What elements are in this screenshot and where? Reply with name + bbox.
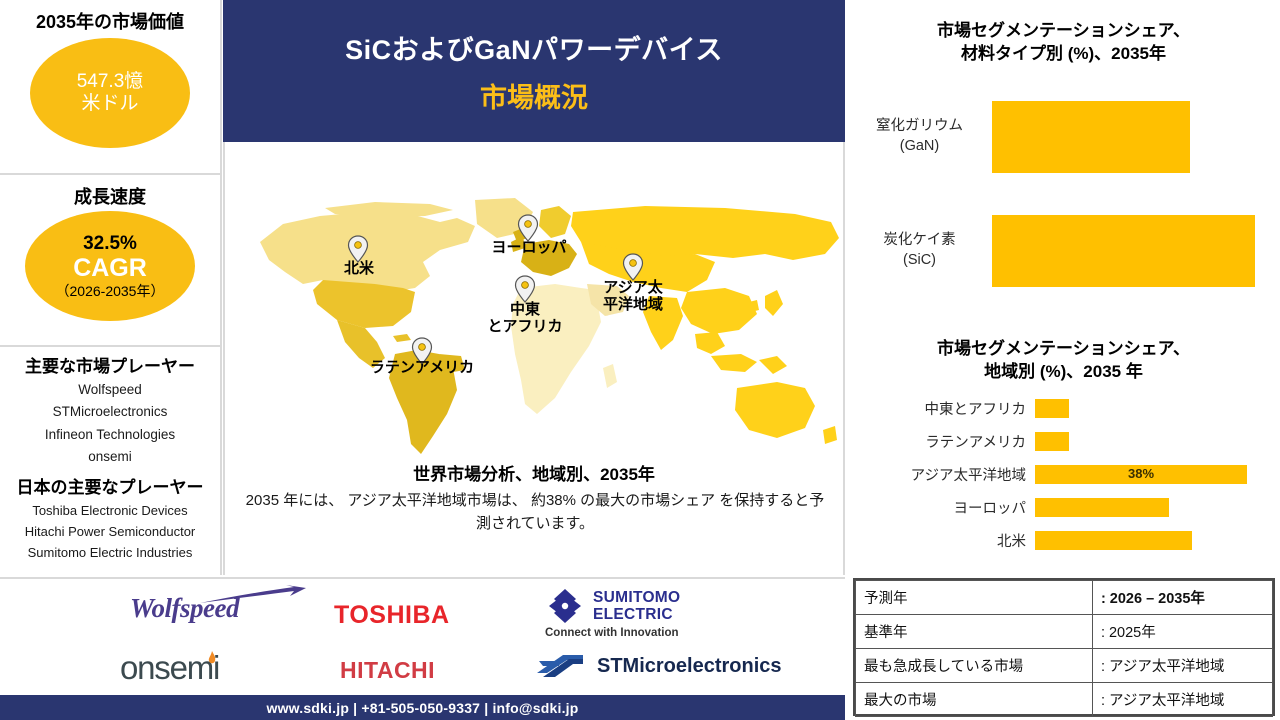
- title-banner: SiCおよびGaNパワーデバイス 市場概況: [223, 0, 845, 142]
- logo-sumitomo-line1: SUMITOMO: [593, 589, 680, 606]
- region-bar-row: ラテンアメリカ: [847, 428, 1280, 454]
- material-bar-row-sic: 炭化ケイ素 (SiC): [847, 215, 1280, 287]
- material-bar-gan: [992, 101, 1190, 173]
- map-label-asia-pacific: アジア太平洋地域: [578, 280, 688, 314]
- map-label-middle-east-africa: 中東とアフリカ: [468, 302, 582, 336]
- material-label-gan: 窒化ガリウム (GaN): [847, 117, 992, 156]
- region-bar-value-label: 38%: [1035, 466, 1247, 481]
- logo-hitachi-text: HITACHI: [340, 657, 435, 684]
- summary-table-element: 予測年: 2026 – 2035年基準年: 2025年最も急成長している市場: …: [855, 580, 1273, 717]
- market-value-ellipse: 547.3憶 米ドル: [30, 38, 190, 148]
- map-pin-asia-pacific[interactable]: [622, 253, 644, 281]
- region-chart-title: 市場セグメンテーションシェア、 地域別 (%)、2035 年: [847, 338, 1280, 384]
- list-item: Toshiba Electronic Devices: [0, 500, 220, 521]
- material-label-sic: 炭化ケイ素 (SiC): [847, 231, 992, 270]
- market-value-ellipse-wrap: 547.3憶 米ドル: [0, 34, 220, 148]
- logo-sumitomo-line2: ELECTRIC: [593, 606, 680, 623]
- table-cell-key: 基準年: [856, 615, 1093, 649]
- region-bar-row: 中東とアフリカ: [847, 395, 1280, 421]
- table-row: 予測年: 2026 – 2035年: [856, 581, 1273, 615]
- table-row: 基準年: 2025年: [856, 615, 1273, 649]
- table-row: 最も急成長している市場: アジア太平洋地域: [856, 649, 1273, 683]
- growth-rate-ellipse: 32.5% CAGR （2026-2035年）: [25, 211, 195, 321]
- map-label-europe: ヨーロッパ: [473, 240, 585, 257]
- st-logo-icon: [533, 651, 587, 681]
- material-label-sic-line1: 炭化ケイ素: [847, 231, 992, 251]
- region-chart-title-line2: 地域別 (%)、2035 年: [847, 361, 1280, 384]
- table-cell-value: : 2025年: [1092, 615, 1272, 649]
- logo-stmicroelectronics: STMicroelectronics: [533, 651, 782, 681]
- material-chart-title: 市場セグメンテーションシェア、 材料タイプ別 (%)、2035年: [847, 20, 1280, 66]
- region-bar: [1035, 498, 1169, 517]
- logo-toshiba-text: TOSHIBA: [334, 601, 450, 630]
- world-map: 北米 ヨーロッパ 中東とアフリカ アジア太平洋地域 ラテンアメリカ: [225, 192, 843, 462]
- map-pin-middle-east-africa[interactable]: [514, 275, 536, 303]
- banner-title-primary: SiCおよびGaNパワーデバイス: [345, 28, 723, 67]
- onsemi-flame-icon: [207, 651, 217, 673]
- cagr-period: （2026-2035年）: [56, 283, 165, 299]
- material-type-bar-chart: 窒化ガリウム (GaN) 炭化ケイ素 (SiC): [847, 95, 1280, 300]
- cagr-label: CAGR: [73, 255, 147, 283]
- logo-onsemi: onsemi: [120, 649, 217, 687]
- summary-table: 予測年: 2026 – 2035年基準年: 2025年最も急成長している市場: …: [853, 578, 1275, 716]
- left-stat-column: 2035年の市場価値 547.3憶 米ドル 成長速度 32.5% CAGR （2…: [0, 0, 222, 575]
- region-bar: 38%: [1035, 465, 1247, 484]
- list-item: Sumitomo Electric Industries: [0, 542, 220, 563]
- logo-onsemi-text: onsemi: [120, 649, 219, 687]
- market-value-line1: 547.3憶: [77, 71, 144, 93]
- table-cell-value: : アジア太平洋地域: [1092, 649, 1272, 683]
- japan-players-list: Toshiba Electronic Devices Hitachi Power…: [0, 500, 220, 563]
- region-bar: [1035, 399, 1069, 418]
- key-players-heading: 主要な市場プレーヤー: [0, 352, 220, 377]
- region-label: ラテンアメリカ: [847, 431, 1035, 452]
- region-bar: [1035, 432, 1069, 451]
- list-item: Hitachi Power Semiconductor: [0, 521, 220, 542]
- world-map-panel: 北米 ヨーロッパ 中東とアフリカ アジア太平洋地域 ラテンアメリカ 世界市場分析…: [223, 142, 845, 575]
- key-players-list: Wolfspeed STMicroelectronics Infineon Te…: [0, 379, 220, 468]
- list-item: Infineon Technologies: [0, 424, 220, 446]
- logo-wolfspeed: Wolfspeed: [130, 593, 239, 624]
- wolfspeed-swoosh-icon: [198, 585, 308, 607]
- footer-contact-bar: www.sdki.jp | +81-505-050-9337 | info@sd…: [0, 695, 845, 720]
- logo-sumitomo-tagline: Connect with Innovation: [545, 627, 679, 639]
- list-item: Wolfspeed: [0, 379, 220, 401]
- market-value-line2: 米ドル: [81, 93, 138, 115]
- region-bar: [1035, 531, 1192, 550]
- footer-text: www.sdki.jp | +81-505-050-9337 | info@sd…: [266, 700, 578, 716]
- material-bar-row-gan: 窒化ガリウム (GaN): [847, 101, 1280, 173]
- list-item: onsemi: [0, 446, 220, 468]
- map-caption: 世界市場分析、地域別、2035年: [225, 460, 843, 485]
- material-label-sic-line2: (SiC): [847, 251, 992, 271]
- region-bar-chart: 中東とアフリカラテンアメリカアジア太平洋地域38%ヨーロッパ北米: [847, 395, 1280, 570]
- sumitomo-diamond-icon: [545, 587, 585, 625]
- table-cell-value: : 2026 – 2035年: [1092, 581, 1272, 615]
- table-cell-value: : アジア太平洋地域: [1092, 683, 1272, 717]
- region-chart-title-line1: 市場セグメンテーションシェア、: [847, 338, 1280, 361]
- map-label-latin-america: ラテンアメリカ: [352, 360, 492, 377]
- table-cell-key: 最も急成長している市場: [856, 649, 1093, 683]
- region-label: 北米: [847, 530, 1035, 551]
- map-subtext: 2035 年には、 アジア太平洋地域市場は、 約38% の最大の市場シェア を保…: [239, 490, 831, 535]
- market-value-heading: 2035年の市場価値: [0, 0, 220, 34]
- material-chart-title-line2: 材料タイプ別 (%)、2035年: [847, 43, 1280, 66]
- logo-st-text: STMicroelectronics: [597, 655, 782, 678]
- region-bar-row: ヨーロッパ: [847, 494, 1280, 520]
- region-label: アジア太平洋地域: [847, 464, 1035, 485]
- region-bar-row: アジア太平洋地域38%: [847, 461, 1280, 487]
- cagr-percent: 32.5%: [83, 233, 137, 255]
- material-label-gan-line2: (GaN): [847, 137, 992, 157]
- table-cell-key: 最大の市場: [856, 683, 1093, 717]
- map-pin-north-america[interactable]: [347, 235, 369, 263]
- logo-toshiba: TOSHIBA: [334, 601, 450, 630]
- region-label: 中東とアフリカ: [847, 398, 1035, 419]
- material-chart-title-line1: 市場セグメンテーションシェア、: [847, 20, 1280, 43]
- japan-players-heading: 日本の主要なプレーヤー: [0, 473, 220, 498]
- logo-hitachi: HITACHI: [340, 657, 435, 684]
- list-item: STMicroelectronics: [0, 401, 220, 423]
- material-label-gan-line1: 窒化ガリウム: [847, 117, 992, 137]
- map-pin-europe[interactable]: [517, 214, 539, 242]
- growth-rate-cell: 成長速度 32.5% CAGR （2026-2035年）: [0, 173, 220, 345]
- players-cell: 主要な市場プレーヤー Wolfspeed STMicroelectronics …: [0, 345, 220, 575]
- market-value-cell: 2035年の市場価値 547.3憶 米ドル: [0, 0, 220, 173]
- growth-rate-ellipse-wrap: 32.5% CAGR （2026-2035年）: [0, 209, 220, 321]
- region-bar-row: 北米: [847, 527, 1280, 553]
- table-cell-key: 予測年: [856, 581, 1093, 615]
- growth-rate-heading: 成長速度: [0, 175, 220, 209]
- logo-sumitomo-electric: SUMITOMO ELECTRIC Connect with Innovatio…: [545, 587, 680, 625]
- region-label: ヨーロッパ: [847, 497, 1035, 518]
- map-label-north-america: 北米: [333, 261, 385, 278]
- infographic-root: 2035年の市場価値 547.3憶 米ドル 成長速度 32.5% CAGR （2…: [0, 0, 1280, 720]
- table-row: 最大の市場: アジア太平洋地域: [856, 683, 1273, 717]
- material-bar-sic: [992, 215, 1255, 287]
- partner-logo-strip: Wolfspeed TOSHIBA SUMITOMO ELECTRIC Conn…: [0, 577, 845, 693]
- banner-title-secondary: 市場概況: [480, 76, 588, 115]
